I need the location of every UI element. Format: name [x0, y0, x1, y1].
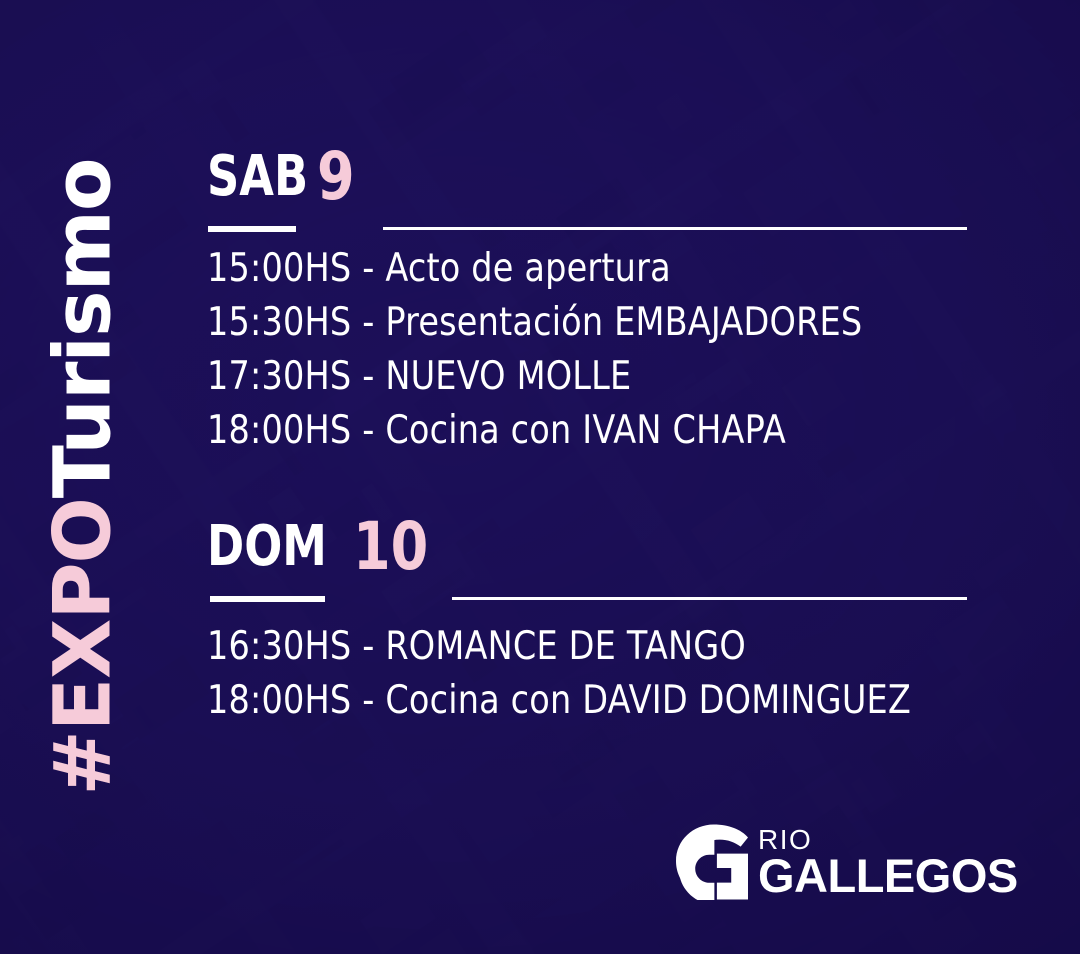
- day-label-sunday: DOM: [207, 518, 325, 576]
- vertical-hashtag-text: #EXPOTurismo: [44, 159, 122, 796]
- day-underline-short-sunday: [210, 596, 325, 602]
- vertical-hashtag: #EXPOTurismo: [0, 0, 160, 954]
- rio-gallegos-logo: RIO GALLEGOS: [676, 824, 1018, 900]
- logo-line-gallegos: GALLEGOS: [758, 853, 1018, 899]
- hashtag-expo-text: #EXPO: [38, 498, 128, 795]
- day-rule-long-sunday: [452, 597, 967, 600]
- day-label-saturday: SAB: [207, 148, 297, 206]
- event-item: 18:00HS - Cocina con DAVID DOMINGUEZ: [207, 674, 911, 728]
- hashtag-turismo-text: Turismo: [38, 159, 128, 499]
- poster-content: #EXPOTurismo SAB 9 15:00HS - Acto de ape…: [0, 0, 1080, 954]
- event-item: 18:00HS - Cocina con IVAN CHAPA: [207, 404, 862, 458]
- event-item: 16:30HS - ROMANCE DE TANGO: [207, 620, 911, 674]
- event-item: 17:30HS - NUEVO MOLLE: [207, 350, 862, 404]
- g-monogram-icon: [676, 824, 748, 900]
- day-rule-long-saturday: [383, 227, 967, 230]
- day-block-saturday: SAB 9 15:00HS - Acto de apertura 15:30HS…: [207, 148, 969, 458]
- day-number-saturday: 9: [317, 148, 355, 206]
- logo-wordmark: RIO GALLEGOS: [758, 825, 1018, 899]
- event-item: 15:00HS - Acto de apertura: [207, 242, 862, 296]
- day-block-sunday: DOM 10 16:30HS - ROMANCE DE TANGO 18:00H…: [207, 518, 1026, 728]
- event-list-saturday: 15:00HS - Acto de apertura 15:30HS - Pre…: [207, 242, 969, 458]
- day-number-sunday: 10: [353, 518, 428, 576]
- event-list-sunday: 16:30HS - ROMANCE DE TANGO 18:00HS - Coc…: [207, 620, 1026, 728]
- day-underline-short-saturday: [208, 226, 296, 232]
- event-item: 15:30HS - Presentación EMBAJADORES: [207, 296, 862, 350]
- day-header-saturday: SAB 9: [207, 148, 969, 232]
- day-header-sunday: DOM 10: [207, 518, 1026, 602]
- poster-canvas: #EXPOTurismo SAB 9 15:00HS - Acto de ape…: [0, 0, 1080, 954]
